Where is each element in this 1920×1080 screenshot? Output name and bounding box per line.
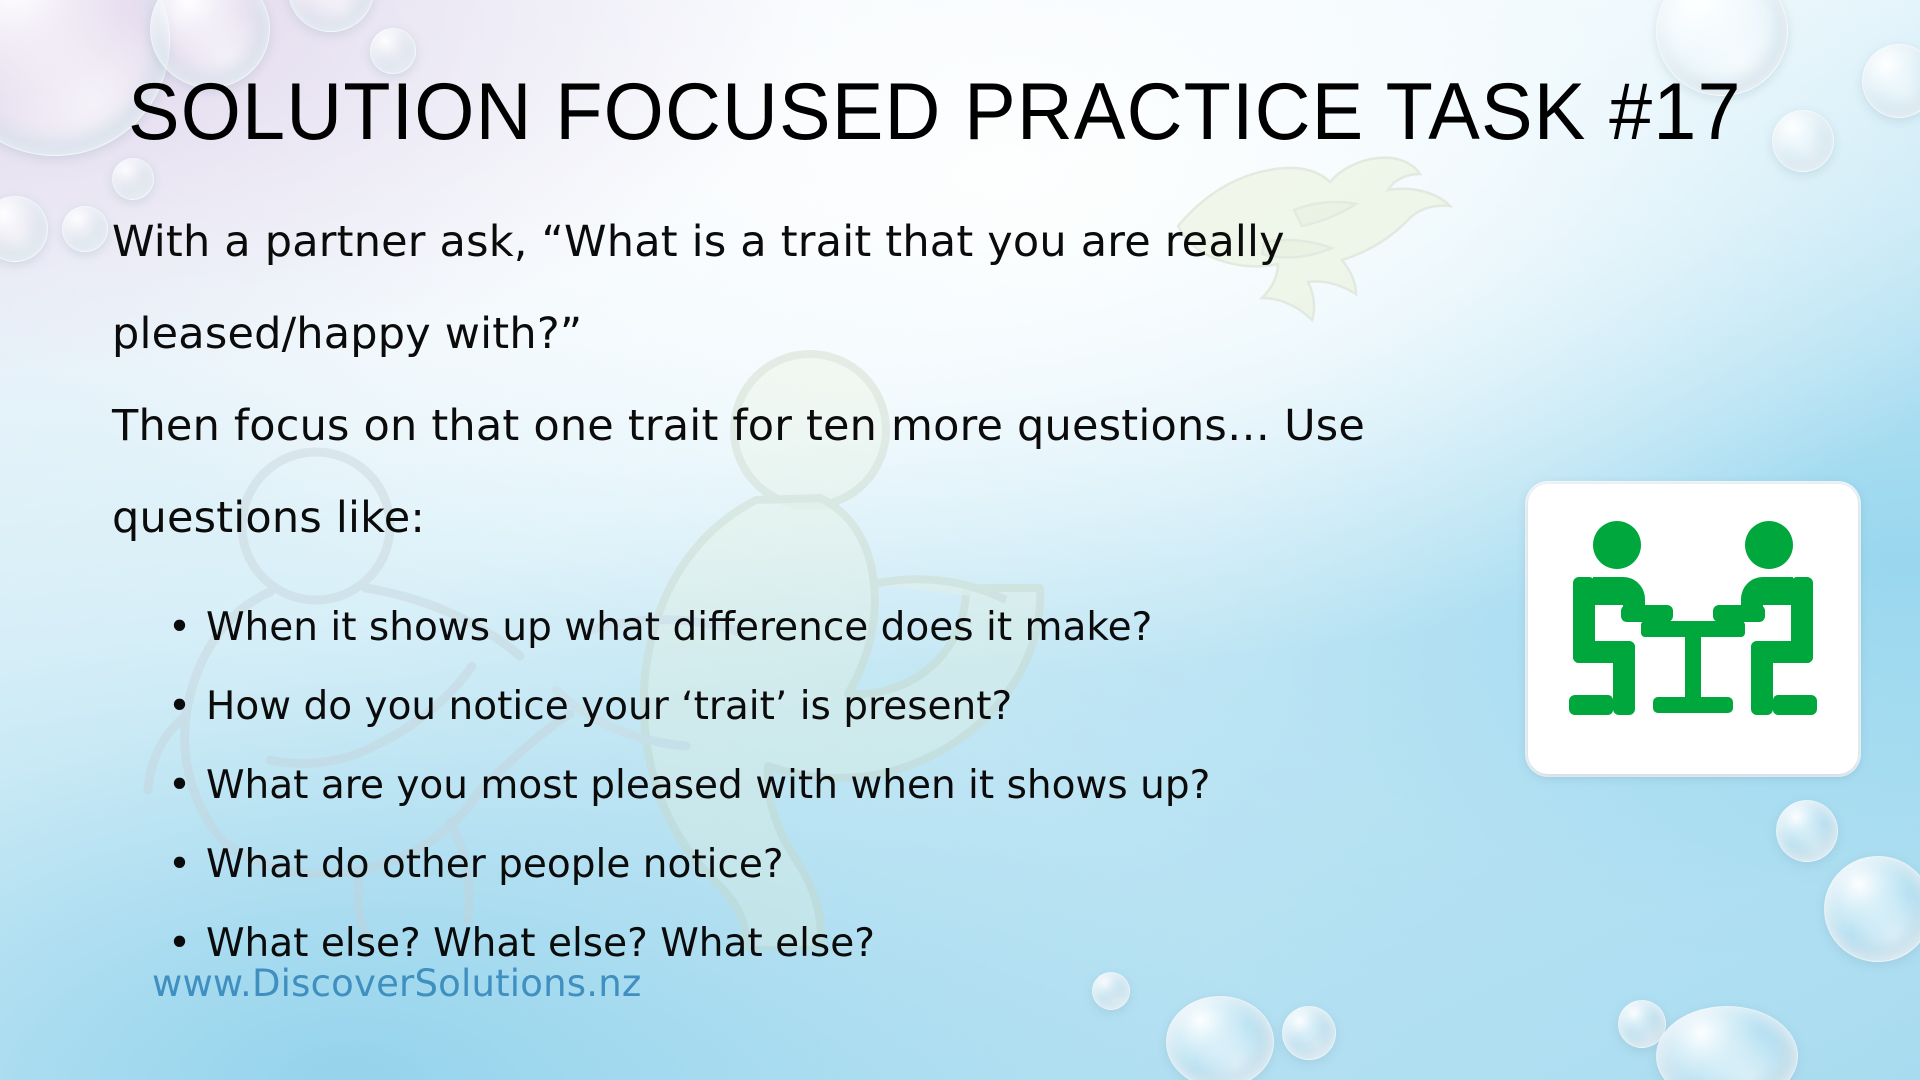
- bubble-decoration: [112, 158, 154, 200]
- bullet-marker-icon: •: [168, 746, 191, 825]
- bubble-decoration: [1862, 44, 1920, 118]
- two-people-at-table-icon: [1555, 509, 1831, 749]
- bubble-decoration: [62, 206, 108, 252]
- list-item: • What are you most pleased with when it…: [164, 746, 1632, 825]
- list-item-label: When it shows up what difference does it…: [206, 605, 1152, 650]
- list-item: • What do other people notice?: [164, 825, 1632, 904]
- body-paragraph-line: With a partner ask, “What is a trait tha…: [112, 196, 1632, 288]
- body-paragraph-line: Then focus on that one trait for ten mor…: [112, 380, 1632, 472]
- slide-canvas: SOLUTION FOCUSED PRACTICE TASK #17 With …: [0, 0, 1920, 1080]
- list-item-label: What are you most pleased with when it s…: [206, 763, 1210, 808]
- list-item-label: How do you notice your ‘trait’ is presen…: [206, 684, 1012, 729]
- question-bullet-list: • When it shows up what difference does …: [112, 588, 1632, 983]
- bubble-decoration: [1282, 1006, 1336, 1060]
- bubble-decoration: [1656, 1006, 1798, 1080]
- bubble-decoration: [288, 0, 374, 32]
- list-item: • When it shows up what difference does …: [164, 588, 1632, 667]
- meeting-icon-card: [1528, 484, 1858, 774]
- bubble-decoration: [1618, 1000, 1666, 1048]
- bullet-marker-icon: •: [168, 825, 191, 904]
- slide-body: With a partner ask, “What is a trait tha…: [112, 196, 1632, 983]
- body-paragraph-line: questions like:: [112, 472, 1632, 564]
- bubble-decoration: [0, 196, 48, 262]
- list-item: • How do you notice your ‘trait’ is pres…: [164, 667, 1632, 746]
- bullet-marker-icon: •: [168, 667, 191, 746]
- body-paragraph-line: pleased/happy with?”: [112, 288, 1632, 380]
- bubble-decoration: [1166, 996, 1274, 1080]
- slide-title: SOLUTION FOCUSED PRACTICE TASK #17: [128, 72, 1713, 153]
- bullet-marker-icon: •: [168, 588, 191, 667]
- list-item-label: What do other people notice?: [206, 842, 784, 887]
- bubble-decoration: [1824, 856, 1920, 962]
- footer-website-url[interactable]: www.DiscoverSolutions.nz: [152, 962, 642, 1005]
- list-item-label: What else? What else? What else?: [206, 921, 875, 966]
- bubble-decoration: [1776, 800, 1838, 862]
- bubble-decoration: [1772, 110, 1834, 172]
